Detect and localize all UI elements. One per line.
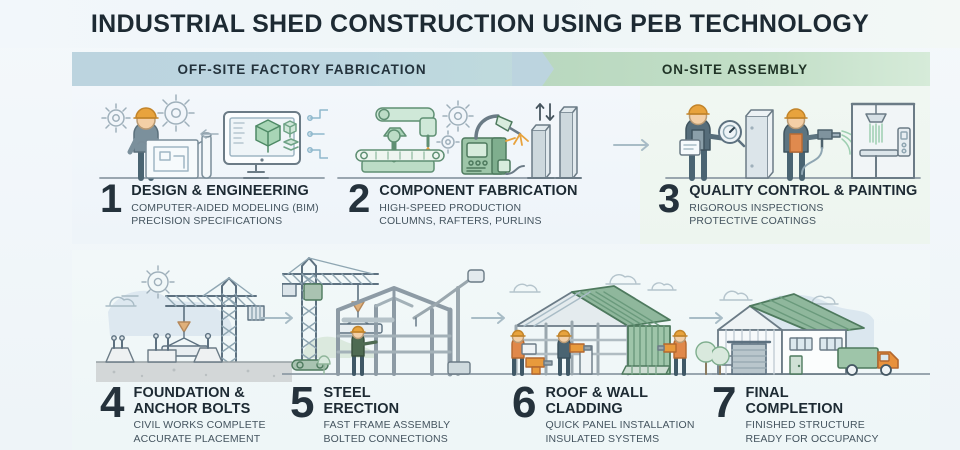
step-title-line-1: STEEL [323, 386, 450, 402]
step-subtitle-2: BOLTED CONNECTIONS [323, 433, 450, 446]
gauge-icon [719, 121, 744, 146]
step-1: 1 DESIGN & ENGINEERING COMPUTER-AIDED MO… [100, 182, 319, 229]
step-title: COMPONENT FABRICATION [379, 184, 577, 200]
step-title: DESIGN & ENGINEERING [131, 184, 319, 200]
cloud-icon [648, 283, 676, 290]
footing-anchor-bolts [106, 336, 134, 362]
welding-machine-icon [462, 116, 528, 174]
step-subtitle-1: QUICK PANEL INSTALLATION [545, 419, 694, 432]
step-number: 6 [512, 384, 536, 423]
direction-arrows-icon [537, 104, 554, 120]
clipboard-icon [680, 140, 700, 155]
step-number: 2 [348, 182, 370, 217]
steel-panel-icon [746, 110, 773, 178]
step-5: 5 STEEL ERECTION FAST FRAME ASSEMBLY BOL… [290, 384, 450, 446]
scene-quality-control-painting [662, 90, 930, 186]
cloud-icon [510, 284, 540, 292]
delivery-truck-icon [838, 348, 898, 375]
robot-arm-icon [362, 108, 442, 172]
spark-icon [506, 134, 528, 145]
circuit-trace-icon [308, 110, 328, 158]
page-title: INDUSTRIAL SHED CONSTRUCTION USING PEB T… [91, 10, 869, 39]
step-subtitle-1: HIGH-SPEED PRODUCTION [379, 202, 577, 215]
step-number: 4 [100, 384, 124, 423]
scene-steel-erection [282, 248, 498, 382]
step-title-line-2: COMPLETION [745, 402, 878, 418]
steel-column-icon [432, 310, 450, 374]
step-subtitle-1: CIVIL WORKS COMPLETE [133, 419, 265, 432]
step-subtitle-2: COLUMNS, RAFTERS, PURLINS [379, 215, 577, 228]
step-title: QUALITY CONTROL & PAINTING [689, 184, 917, 200]
step-title-line-1: ROOF & WALL [545, 386, 694, 402]
step-title-line-1: FOUNDATION & [133, 386, 265, 402]
phase-label-offsite: OFF-SITE FACTORY FABRICATION [72, 52, 532, 86]
cloud-icon [606, 275, 640, 284]
steel-column-icon [556, 107, 581, 178]
title-bar: INDUSTRIAL SHED CONSTRUCTION USING PEB T… [0, 0, 960, 48]
paint-booth-icon [852, 104, 914, 178]
scene-roof-wall-cladding [498, 248, 716, 382]
scene-design-engineering [96, 90, 328, 186]
step-subtitle-2: INSULATED SYSTEMS [545, 433, 694, 446]
gear-icon [102, 104, 130, 132]
step-4: 4 FOUNDATION & ANCHOR BOLTS CIVIL WORKS … [100, 384, 266, 446]
sky-blob [108, 291, 232, 336]
conveyor-icon [356, 150, 444, 161]
gear-icon [443, 101, 473, 131]
drill-icon [526, 358, 552, 374]
step-subtitle-2: ACCURATE PLACEMENT [133, 433, 265, 446]
step-7: 7 FINAL COMPLETION FINISHED STRUCTURE RE… [712, 384, 879, 446]
scene-final-completion [712, 248, 930, 382]
cloud-icon [720, 291, 752, 300]
step-subtitle-1: COMPUTER-AIDED MODELING (BIM) [131, 202, 319, 215]
step-number: 7 [712, 384, 736, 423]
step-number: 5 [290, 384, 314, 423]
phase-label-onsite: ON-SITE ASSEMBLY [540, 52, 930, 86]
step-number: 1 [100, 182, 122, 217]
painter-figure [784, 109, 860, 178]
rolled-drawing-icon [202, 133, 211, 178]
step-6: 6 ROOF & WALL CLADDING QUICK PANEL INSTA… [512, 384, 695, 446]
gear-icon [158, 95, 194, 131]
step-3: 3 QUALITY CONTROL & PAINTING RIGOROUS IN… [658, 182, 960, 229]
step-subtitle-2: PRECISION SPECIFICATIONS [131, 215, 319, 228]
panel-stack-icon [622, 366, 670, 374]
step-title-line-2: CLADDING [545, 402, 694, 418]
scene-component-fabrication [336, 90, 582, 186]
blueprint-icon [138, 140, 206, 178]
step-title-line-2: ERECTION [323, 402, 450, 418]
step-subtitle-2: PROTECTIVE COATINGS [689, 215, 917, 228]
step-subtitle-2: READY FOR OCCUPANCY [745, 433, 878, 446]
infographic-canvas: INDUSTRIAL SHED CONSTRUCTION USING PEB T… [0, 0, 960, 450]
step-2: 2 COMPONENT FABRICATION HIGH-SPEED PRODU… [348, 182, 578, 229]
step-title-line-2: ANCHOR BOLTS [133, 402, 265, 418]
step-subtitle-1: FAST FRAME ASSEMBLY [323, 419, 450, 432]
step-subtitle-1: FINISHED STRUCTURE [745, 419, 878, 432]
phase-banner: OFF-SITE FACTORY FABRICATION ON-SITE ASS… [72, 52, 930, 86]
inspector-figure [680, 105, 744, 178]
flow-arrow-2-to-3 [612, 136, 654, 159]
step-number: 3 [658, 182, 680, 217]
steel-column-icon [528, 125, 554, 178]
step-title-line-1: FINAL [745, 386, 878, 402]
monitor-icon [224, 112, 300, 178]
step-subtitle-1: RIGOROUS INSPECTIONS [689, 202, 917, 215]
